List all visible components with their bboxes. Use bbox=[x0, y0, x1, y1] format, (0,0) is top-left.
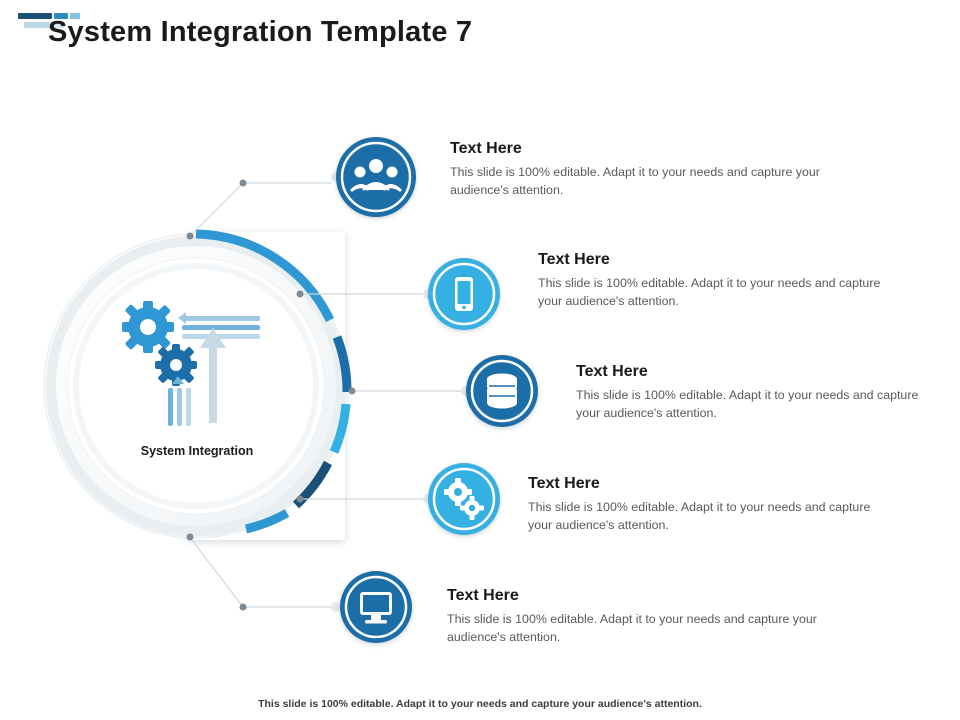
item-body-3: This slide is 100% editable. Adapt it to… bbox=[576, 387, 921, 423]
item-title-2: Text Here bbox=[538, 251, 883, 269]
item-body-4: This slide is 100% editable. Adapt it to… bbox=[528, 499, 873, 535]
icon-circle-2 bbox=[428, 258, 500, 330]
list-item-4[interactable]: Text Here This slide is 100% editable. A… bbox=[528, 475, 873, 535]
diagram-stage: System Integration Text Here This slide … bbox=[0, 0, 960, 720]
item-title-5: Text Here bbox=[447, 587, 857, 605]
item-title-3: Text Here bbox=[576, 363, 921, 381]
icon-circle-3 bbox=[466, 355, 538, 427]
smartphone-icon bbox=[455, 277, 473, 311]
item-body-1: This slide is 100% editable. Adapt it to… bbox=[450, 164, 830, 200]
icon-circle-1 bbox=[336, 137, 416, 217]
list-item-5[interactable]: Text Here This slide is 100% editable. A… bbox=[447, 587, 857, 647]
icon-circle-4 bbox=[428, 463, 500, 535]
item-body-5: This slide is 100% editable. Adapt it to… bbox=[447, 611, 857, 647]
list-item-3[interactable]: Text Here This slide is 100% editable. A… bbox=[576, 363, 921, 423]
item-title-1: Text Here bbox=[450, 140, 830, 158]
icon-circle-5 bbox=[340, 571, 412, 643]
list-item-1[interactable]: Text Here This slide is 100% editable. A… bbox=[450, 140, 830, 200]
database-icon bbox=[487, 374, 517, 409]
item-body-2: This slide is 100% editable. Adapt it to… bbox=[538, 275, 883, 311]
hub-label: System Integration bbox=[117, 444, 277, 458]
footer-note: This slide is 100% editable. Adapt it to… bbox=[0, 698, 960, 710]
item-title-4: Text Here bbox=[528, 475, 873, 493]
hub-graphic bbox=[44, 232, 348, 540]
list-item-2[interactable]: Text Here This slide is 100% editable. A… bbox=[538, 251, 883, 311]
